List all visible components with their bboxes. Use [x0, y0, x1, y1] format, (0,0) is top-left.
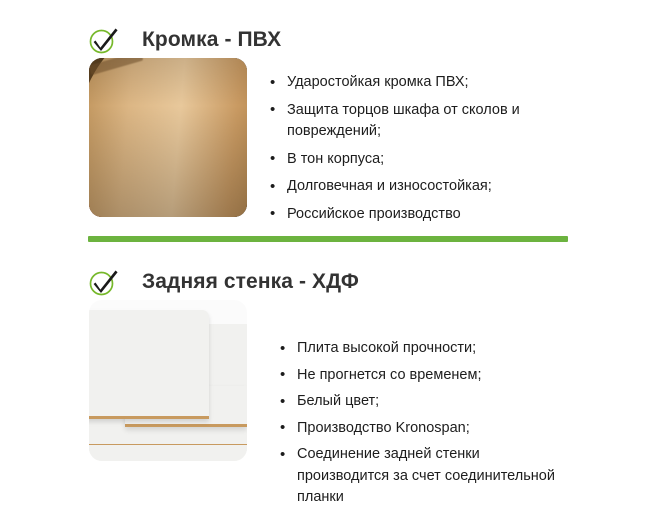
- hdf-board-base: [89, 445, 247, 461]
- green-check-circle-icon: [88, 24, 119, 55]
- feature-list-hdf-back-panel: Плита высокой прочности; Не прогнется со…: [278, 338, 568, 514]
- section-divider: [88, 236, 568, 242]
- section-title: Задняя стенка - ХДФ: [142, 271, 359, 292]
- hdf-board-artwork: [89, 300, 247, 461]
- pvc-edge-artwork: [89, 58, 247, 217]
- list-item: Плита высокой прочности;: [278, 338, 568, 360]
- list-item: Производство Kronospan;: [278, 418, 568, 440]
- list-item: Ударостойкая кромка ПВХ;: [268, 72, 568, 94]
- green-check-circle-icon: [88, 266, 119, 297]
- product-features-page: Кромка - ПВХ Ударостойкая кромка ПВХ; За…: [0, 0, 652, 500]
- list-item: В тон корпуса;: [268, 149, 568, 171]
- feature-list-pvc-edge: Ударостойкая кромка ПВХ; Защита торцов ш…: [268, 72, 568, 231]
- list-item: Защита торцов шкафа от сколов и поврежде…: [268, 100, 568, 143]
- section-title: Кромка - ПВХ: [142, 29, 281, 50]
- list-item: Долговечная и износостойкая;: [268, 176, 568, 198]
- product-image-pvc-edge: [89, 58, 247, 217]
- pvc-artwork-shading: [89, 58, 247, 217]
- section-heading-row-hdf-back-panel: Задняя стенка - ХДФ: [88, 264, 359, 298]
- product-image-hdf-back-panel: [89, 300, 247, 461]
- list-item: Не прогнется со временем;: [278, 365, 568, 387]
- list-item: Белый цвет;: [278, 391, 568, 413]
- list-item: Соединение задней стенки производится за…: [278, 444, 568, 509]
- list-item: Российское производство: [268, 204, 568, 226]
- section-heading-row-pvc-edge: Кромка - ПВХ: [88, 22, 281, 56]
- hdf-board-top: [89, 310, 209, 419]
